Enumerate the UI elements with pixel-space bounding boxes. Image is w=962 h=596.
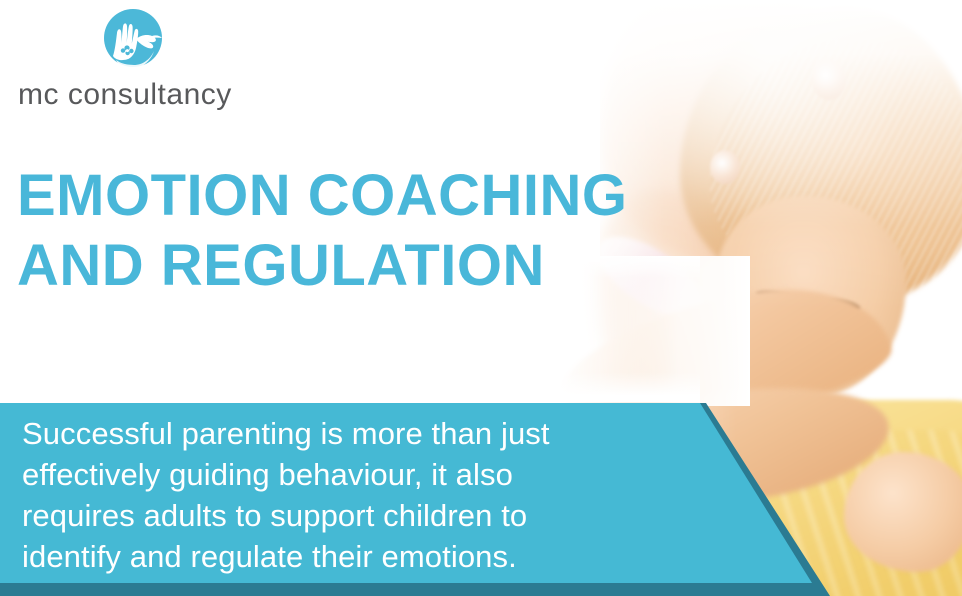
page-title: EMOTION COACHING AND REGULATION bbox=[17, 161, 697, 301]
quote-text: Successful parenting is more than just e… bbox=[22, 413, 682, 577]
poster-canvas: mc consultancy EMOTION COACHING AND REGU… bbox=[0, 0, 962, 596]
quote-line-4: identify and regulate their emotions. bbox=[22, 536, 682, 577]
quote-line-2: effectively guiding behaviour, it also bbox=[22, 454, 682, 495]
quote-line-3: requires adults to support children to bbox=[22, 495, 682, 536]
quote-line-1: Successful parenting is more than just bbox=[22, 413, 682, 454]
title-line-1: EMOTION COACHING bbox=[17, 161, 697, 231]
brand-name: mc consultancy bbox=[18, 78, 278, 112]
brand-logo: mc consultancy bbox=[18, 8, 278, 112]
title-line-2: AND REGULATION bbox=[17, 231, 697, 301]
bokeh-fade-bottom bbox=[0, 372, 700, 402]
hand-holding-dove-icon bbox=[96, 8, 170, 76]
